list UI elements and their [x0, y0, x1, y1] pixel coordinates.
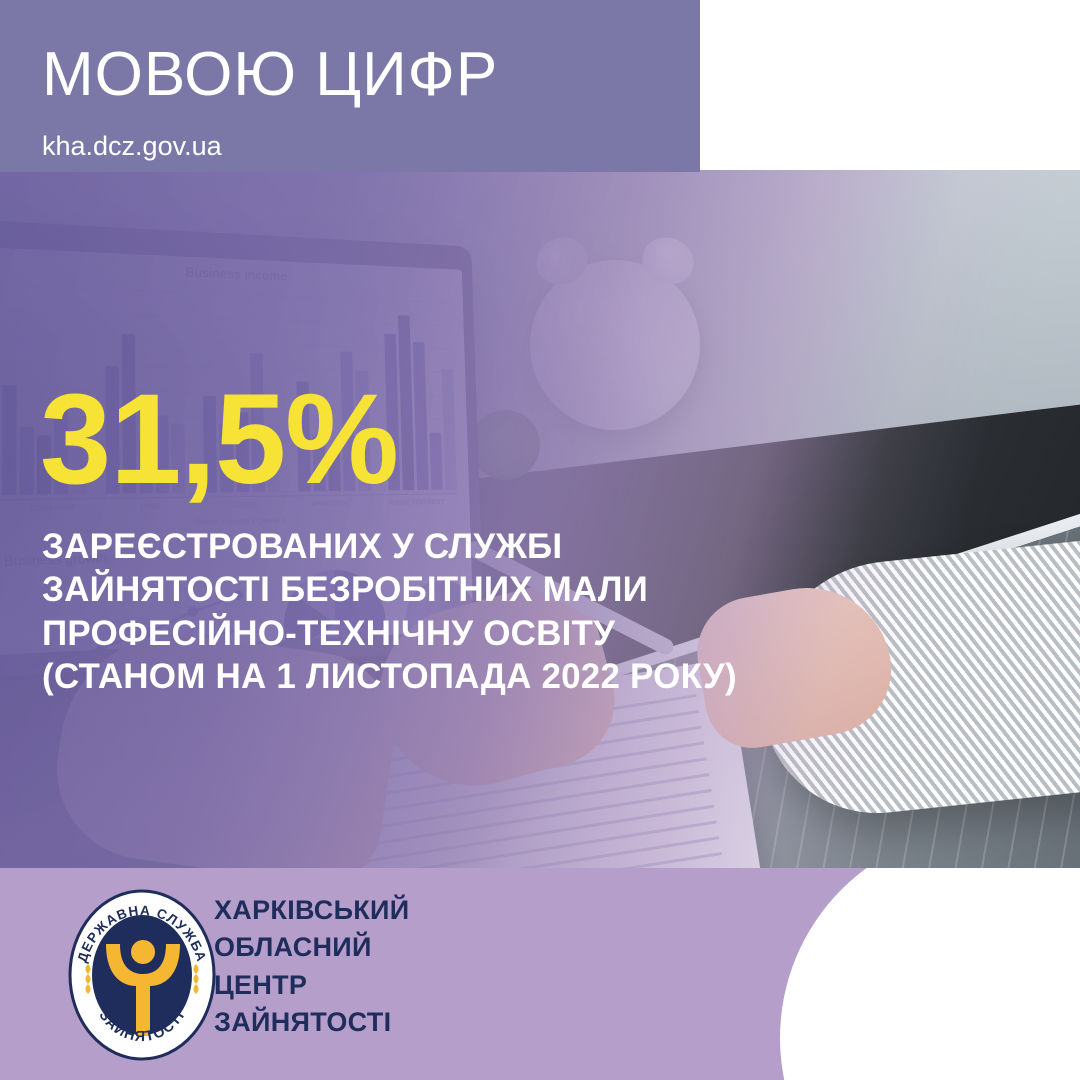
footer-band: ДЕРЖАВНА СЛУЖБА ЗАЙНЯТОСТІ ХАРКІВСЬКИЙ О…	[0, 868, 1080, 1080]
website-url[interactable]: kha.dcz.gov.ua	[42, 133, 222, 160]
organization-line: ОБЛАСНИЙ	[214, 929, 409, 966]
organization-name: ХАРКІВСЬКИЙ ОБЛАСНИЙ ЦЕНТР ЗАЙНЯТОСТІ	[214, 892, 409, 1041]
description-line: (СТАНОМ НА 1 ЛИСТОПАДА 2022 РОКУ)	[42, 655, 822, 698]
footer-content: ДЕРЖАВНА СЛУЖБА ЗАЙНЯТОСТІ ХАРКІВСЬКИЙ О…	[0, 868, 1080, 1080]
description-line: ЗАРЕЄСТРОВАНИХ У СЛУЖБІ	[42, 525, 822, 568]
statistic-value: 31,5%	[40, 376, 398, 504]
page-title: МОВОЮ ЦИФР	[42, 44, 498, 106]
statistic-description: ЗАРЕЄСТРОВАНИХ У СЛУЖБІ ЗАЙНЯТОСТІ БЕЗРО…	[42, 525, 822, 699]
purple-overlay-radial	[0, 170, 1080, 870]
organization-line: ХАРКІВСЬКИЙ	[214, 892, 409, 929]
description-line: ПРОФЕСІЙНО-ТЕХНІЧНУ ОСВІТУ	[42, 612, 822, 655]
infographic-poster: Business income TOWN HOME LAND	[0, 0, 1080, 1080]
employment-service-logo: ДЕРЖАВНА СЛУЖБА ЗАЙНЯТОСТІ	[62, 886, 222, 1064]
description-line: ЗАЙНЯТОСТІ БЕЗРОБІТНИХ МАЛИ	[42, 568, 822, 611]
organization-line: ЗАЙНЯТОСТІ	[214, 1004, 409, 1041]
organization-line: ЦЕНТР	[214, 967, 409, 1004]
